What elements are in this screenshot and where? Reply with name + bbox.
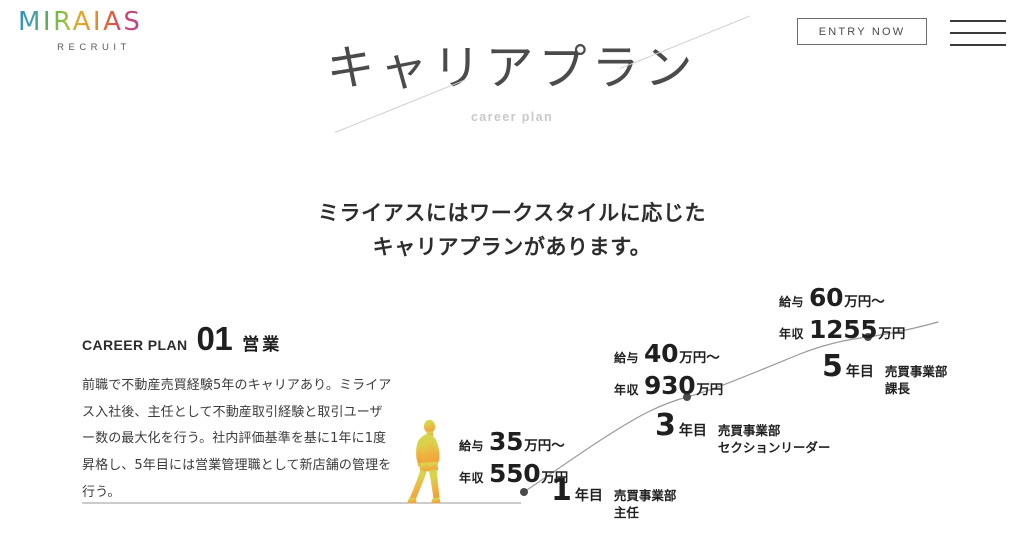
lead-copy: ミライアスにはワークスタイルに応じた キャリアプランがあります。 xyxy=(0,196,1024,264)
milestone-year3-department: 売買事業部 セクションリーダー xyxy=(718,422,831,457)
milestone-year5-role: 5 年目 売買事業部 課長 xyxy=(822,352,947,398)
milestone-year5-salary-value: 60 xyxy=(809,283,843,312)
entry-now-button[interactable]: ENTRY NOW xyxy=(797,18,927,45)
milestone-year3-year-unit: 年目 xyxy=(679,420,707,440)
logo-wordmark: MIRAIAS xyxy=(18,9,142,35)
milestone-year5-salary: 給与60万円〜 年収1255万円 xyxy=(779,283,905,344)
milestone-year5-income-unit: 万円 xyxy=(878,326,905,342)
milestone-year1-role: 1 年目 売買事業部 主任 xyxy=(551,476,676,522)
milestone-year3-salary-label: 給与 xyxy=(614,351,639,365)
milestone-year3-dept-line2: セクションリーダー xyxy=(718,440,831,455)
milestone-year1-monthly-salary: 給与35万円〜 xyxy=(459,427,568,456)
walking-person-icon xyxy=(404,419,450,505)
milestone-year5-salary-label: 給与 xyxy=(779,295,804,309)
career-plan-heading: CAREER PLAN 01 営業 xyxy=(82,322,282,355)
milestone-year3-salary: 給与40万円〜 年収930万円 xyxy=(614,339,723,400)
milestone-year3-income-label: 年収 xyxy=(614,383,639,397)
milestone-year1-dept-line2: 主任 xyxy=(614,505,639,520)
page-root: MIRAIAS RECRUIT ENTRY NOW キャリアプラン career… xyxy=(0,0,1024,554)
milestone-year3-year-number: 3 xyxy=(655,411,676,441)
milestone-year5-dept-line1: 売買事業部 xyxy=(885,364,948,379)
hamburger-bar-1 xyxy=(950,20,1006,22)
milestone-year1-salary-label: 給与 xyxy=(459,439,484,453)
milestone-year3-annual-income: 年収930万円 xyxy=(614,371,723,400)
page-title: キャリアプラン xyxy=(0,42,1024,95)
milestone-year5-income-value: 1255 xyxy=(809,315,877,344)
hamburger-bar-2 xyxy=(950,32,1006,34)
milestone-year5-annual-income: 年収1255万円 xyxy=(779,315,905,344)
milestone-year3-income-value: 930 xyxy=(644,371,695,400)
entry-now-label: ENTRY NOW xyxy=(819,26,906,38)
milestone-year3-salary-unit: 万円〜 xyxy=(679,350,720,366)
milestone-year5-year-unit: 年目 xyxy=(846,361,874,381)
chart-point-year1 xyxy=(520,488,528,496)
milestone-year5-dept-line2: 課長 xyxy=(885,381,910,396)
career-plan-kicker: CAREER PLAN xyxy=(82,337,188,353)
career-plan-number: 01 xyxy=(197,322,233,355)
milestone-year1-year-number: 1 xyxy=(551,476,572,506)
milestone-year5-year-number: 5 xyxy=(822,352,843,382)
milestone-year1-income-value: 550 xyxy=(489,459,540,488)
lead-copy-line-2: キャリアプランがあります。 xyxy=(0,230,1024,264)
milestone-year1-dept-line1: 売買事業部 xyxy=(614,488,677,503)
milestone-year5-salary-unit: 万円〜 xyxy=(844,294,885,310)
lead-copy-line-1: ミライアスにはワークスタイルに応じた xyxy=(0,196,1024,230)
milestone-year1-income-label: 年収 xyxy=(459,471,484,485)
milestone-year1-year-unit: 年目 xyxy=(575,485,603,505)
milestone-year1-salary-value: 35 xyxy=(489,427,523,456)
hero-title-block: キャリアプラン career plan xyxy=(0,42,1024,142)
career-plan-description: 前職で不動産売買経験5年のキャリアあり。ミライアス入社後、主任として不動産取引経… xyxy=(82,373,394,506)
milestone-year3-income-unit: 万円 xyxy=(696,382,723,398)
milestone-year3-monthly-salary: 給与40万円〜 xyxy=(614,339,723,368)
milestone-year3-dept-line1: 売買事業部 xyxy=(718,423,781,438)
milestone-year3-role: 3 年目 売買事業部 セクションリーダー xyxy=(655,411,830,457)
page-subtitle: career plan xyxy=(0,110,1024,124)
milestone-year5-department: 売買事業部 課長 xyxy=(885,363,948,398)
milestone-year3-salary-value: 40 xyxy=(644,339,678,368)
milestone-year5-income-label: 年収 xyxy=(779,327,804,341)
milestone-year1-salary-unit: 万円〜 xyxy=(524,438,565,454)
career-plan-job: 営業 xyxy=(242,330,282,355)
chart-curve-line xyxy=(524,322,938,492)
milestone-year5-monthly-salary: 給与60万円〜 xyxy=(779,283,905,312)
milestone-year1-department: 売買事業部 主任 xyxy=(614,487,677,522)
